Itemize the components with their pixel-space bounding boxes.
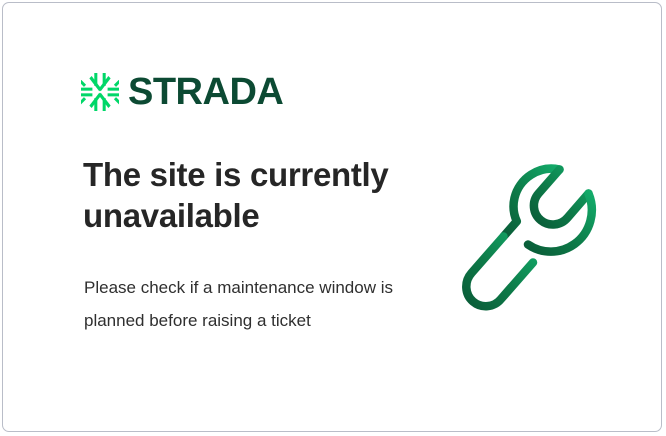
brand-wordmark: STRADA: [128, 73, 283, 111]
page-description: Please check if a maintenance window is …: [84, 271, 394, 337]
page-title: The site is currently unavailable: [83, 155, 423, 237]
brand-lockup: STRADA: [81, 73, 283, 111]
unavailable-card: STRADA The site is currently unavailable…: [2, 2, 662, 432]
wrench-icon: [455, 155, 621, 315]
strada-asterisk-icon: [81, 73, 119, 111]
